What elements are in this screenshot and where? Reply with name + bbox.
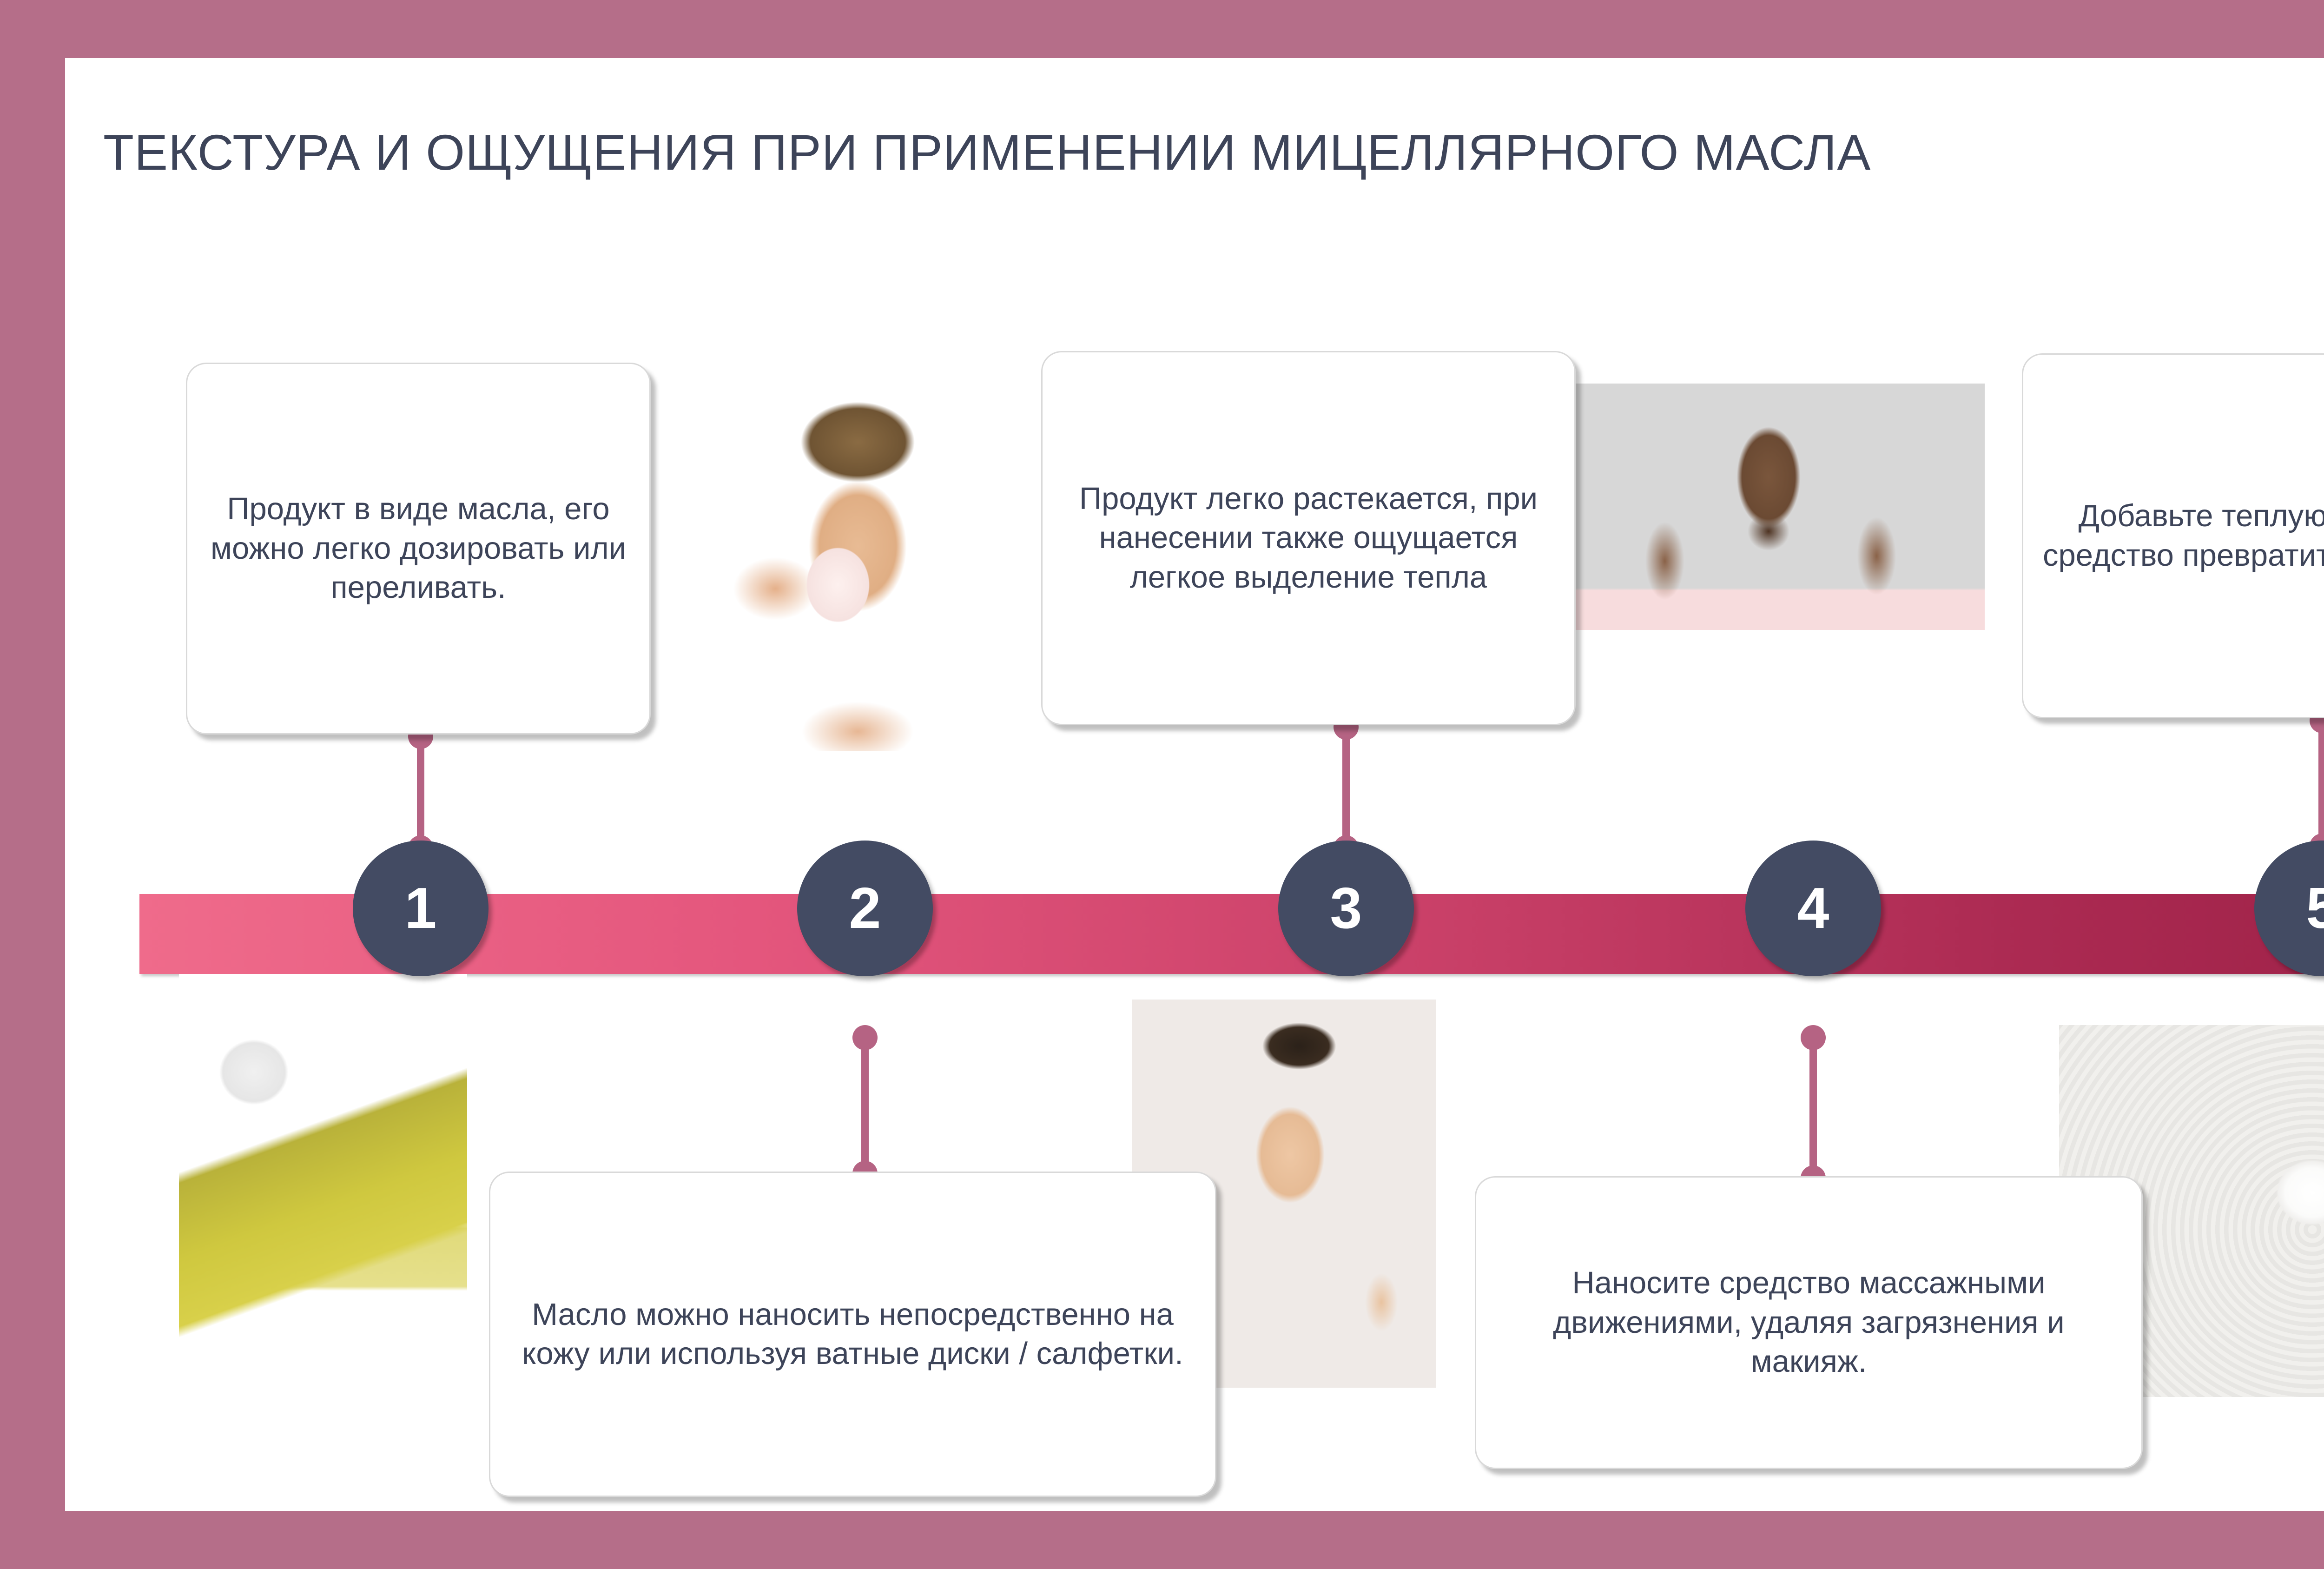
step-text-4: Наносите средство массажными движениями,… xyxy=(1492,1264,2126,1381)
step-text-3: Продукт легко растекается, при нанесении… xyxy=(1058,479,1558,597)
connector-line-3 xyxy=(1342,725,1350,851)
step-number-2: 2 xyxy=(849,875,881,941)
connector-dot-2-top xyxy=(852,1025,878,1050)
step-textbox-5[interactable]: Добавьте теплую воду, помассируйте, сред… xyxy=(2022,353,2324,718)
step-circle-3[interactable]: 3 xyxy=(1278,841,1414,976)
step-circle-1[interactable]: 1 xyxy=(353,841,489,976)
step-textbox-2[interactable]: Масло можно наносить непосредственно на … xyxy=(489,1172,1216,1497)
connector-line-2 xyxy=(861,1034,869,1178)
connector-line-1 xyxy=(417,735,424,851)
connector-dot-4-top xyxy=(1801,1025,1826,1050)
step-number-1: 1 xyxy=(405,875,437,941)
step-text-1: Продукт в виде масла, его можно легко до… xyxy=(203,490,634,607)
step-textbox-1[interactable]: Продукт в виде масла, его можно легко до… xyxy=(186,363,651,735)
step-circle-2[interactable]: 2 xyxy=(797,841,933,976)
page-title: ТЕКСТУРА И ОЩУЩЕНИЯ ПРИ ПРИМЕНЕНИИ МИЦЕЛ… xyxy=(103,123,2324,181)
step-text-2: Масло можно наносить непосредственно на … xyxy=(506,1295,1199,1374)
slide-canvas: ТЕКСТУРА И ОЩУЩЕНИЯ ПРИ ПРИМЕНЕНИИ МИЦЕЛ… xyxy=(65,58,2324,1511)
step-number-4: 4 xyxy=(1797,875,1829,941)
step-circle-4[interactable]: 4 xyxy=(1745,841,1881,976)
man-washing-face-photo xyxy=(1552,384,1985,630)
connector-line-5 xyxy=(2318,718,2324,848)
connector-line-4 xyxy=(1809,1034,1817,1183)
step-text-5: Добавьте теплую воду, помассируйте, сред… xyxy=(2039,497,2324,575)
step-textbox-3[interactable]: Продукт легко растекается, при нанесении… xyxy=(1041,351,1576,725)
oil-pouring-photo xyxy=(179,974,467,1420)
step-number-5: 5 xyxy=(2306,875,2324,941)
step-textbox-4[interactable]: Наносите средство массажными движениями,… xyxy=(1475,1176,2143,1469)
woman-cotton-pad-photo xyxy=(676,365,1006,751)
step-number-3: 3 xyxy=(1330,875,1362,941)
